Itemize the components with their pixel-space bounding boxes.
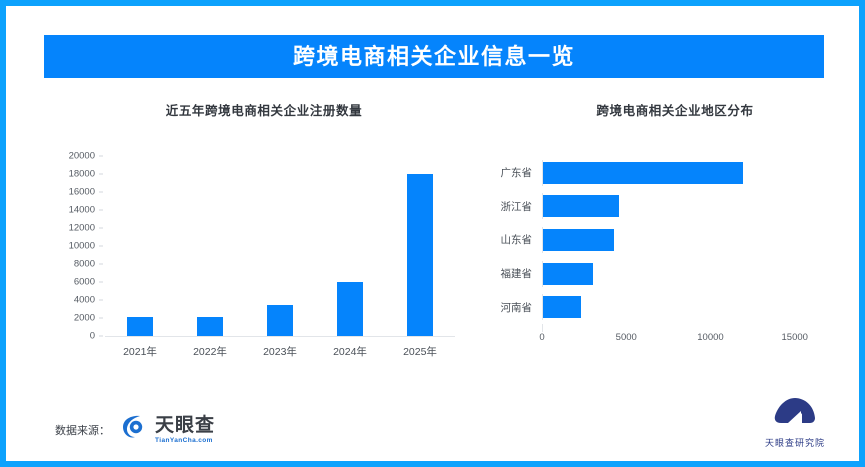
y-tick-mark <box>99 192 103 193</box>
y-tick-mark <box>99 300 103 301</box>
bar-slot <box>389 156 452 336</box>
bar <box>543 296 581 318</box>
bar-row: 福建省 <box>470 261 820 287</box>
bar <box>197 317 223 336</box>
title-banner: 跨境电商相关企业信息一览 <box>44 35 824 78</box>
y-tick-mark <box>99 264 103 265</box>
category-label: 山东省 <box>470 232 542 247</box>
y-tick-label: 8000 <box>74 259 95 270</box>
y-tick-mark <box>99 246 103 247</box>
page-title: 跨境电商相关企业信息一览 <box>293 46 575 68</box>
vertical-bar-chart: 0200040006000800010000120001400016000180… <box>55 156 455 371</box>
bar <box>543 263 593 285</box>
category-label: 河南省 <box>470 300 542 315</box>
bar-row: 山东省 <box>470 227 820 253</box>
x-tick-label: 2021年 <box>109 344 172 359</box>
y-axis: 0200040006000800010000120001400016000180… <box>55 156 103 336</box>
x-tick-label: 2023年 <box>249 344 312 359</box>
tianyancha-wordmark: 天眼查 TianYanCha.com <box>155 416 215 444</box>
left-chart-title: 近五年跨境电商相关企业注册数量 <box>55 100 455 118</box>
bar-track <box>542 193 820 219</box>
y-tick-label: 14000 <box>69 205 95 216</box>
chart-panel-regions: 跨境电商相关企业地区分布 广东省浙江省山东省福建省河南省 05000100001… <box>470 100 820 371</box>
category-label: 浙江省 <box>470 199 542 214</box>
y-tick-label: 4000 <box>74 295 95 306</box>
chart-panel-registrations: 近五年跨境电商相关企业注册数量 020004000600080001000012… <box>55 100 455 371</box>
x-tick-label: 0 <box>539 332 544 343</box>
bar-track <box>542 160 820 186</box>
research-wing-icon <box>772 397 818 434</box>
y-tick-label: 18000 <box>69 169 95 180</box>
x-tick-label: 5000 <box>616 332 637 343</box>
bar-series <box>105 156 455 336</box>
category-label: 广东省 <box>470 165 542 180</box>
bar-row: 浙江省 <box>470 193 820 219</box>
horizontal-bar-chart: 广东省浙江省山东省福建省河南省 050001000015000 <box>470 156 820 371</box>
page-border-right <box>859 0 865 467</box>
y-tick-mark <box>99 174 103 175</box>
y-tick-label: 12000 <box>69 223 95 234</box>
y-tick-label: 0 <box>90 331 95 342</box>
bar-track <box>542 227 820 253</box>
logo-word: 天眼查 <box>155 416 215 435</box>
bar-track <box>542 261 820 287</box>
bar <box>407 174 433 336</box>
source-label: 数据来源： <box>55 422 110 438</box>
bar-slot <box>179 156 242 336</box>
bar <box>127 317 153 336</box>
y-tick-mark <box>99 318 103 319</box>
bar-row: 河南省 <box>470 294 820 320</box>
bar-track <box>542 294 820 320</box>
x-axis-line <box>542 324 820 332</box>
logo-domain: TianYanCha.com <box>155 437 215 444</box>
research-institute-logo: 天眼查研究院 <box>765 397 825 449</box>
bar <box>267 305 293 337</box>
x-tick-label: 2022年 <box>179 344 242 359</box>
x-axis-labels: 2021年2022年2023年2024年2025年 <box>105 344 455 359</box>
bar <box>543 195 619 217</box>
y-tick-mark <box>99 282 103 283</box>
bar-slot <box>109 156 172 336</box>
tianyancha-logo: 天眼查 TianYanCha.com <box>120 414 215 445</box>
bar-slot <box>249 156 312 336</box>
bar-slot <box>319 156 382 336</box>
category-label: 福建省 <box>470 266 542 281</box>
bar <box>543 162 743 184</box>
research-institute-label: 天眼查研究院 <box>765 436 825 449</box>
x-tick-label: 10000 <box>697 332 723 343</box>
bar-row: 广东省 <box>470 160 820 186</box>
x-tick-label: 2024年 <box>319 344 382 359</box>
y-tick-mark <box>99 228 103 229</box>
page-border-bottom <box>0 461 865 467</box>
x-tick-label: 2025年 <box>389 344 452 359</box>
bar <box>337 282 363 336</box>
x-tick-label: 15000 <box>782 332 808 343</box>
right-chart-title: 跨境电商相关企业地区分布 <box>470 100 820 118</box>
tianyancha-eye-icon <box>120 414 150 445</box>
bar-series: 广东省浙江省山东省福建省河南省 <box>470 156 820 324</box>
y-tick-mark <box>99 336 103 337</box>
y-tick-mark <box>99 210 103 211</box>
infographic-page: 跨境电商相关企业信息一览 近五年跨境电商相关企业注册数量 02000400060… <box>0 0 865 467</box>
y-tick-label: 20000 <box>69 151 95 162</box>
y-tick-label: 10000 <box>69 241 95 252</box>
data-source: 数据来源： 天眼查 TianYanCha.com <box>55 414 215 445</box>
plot-area <box>105 156 455 337</box>
y-tick-mark <box>99 156 103 157</box>
y-tick-label: 2000 <box>74 313 95 324</box>
bar <box>543 229 614 251</box>
y-tick-label: 16000 <box>69 187 95 198</box>
y-tick-label: 6000 <box>74 277 95 288</box>
page-border-top <box>0 0 865 6</box>
page-border-left <box>0 0 6 467</box>
x-axis-labels: 050001000015000 <box>542 332 820 346</box>
